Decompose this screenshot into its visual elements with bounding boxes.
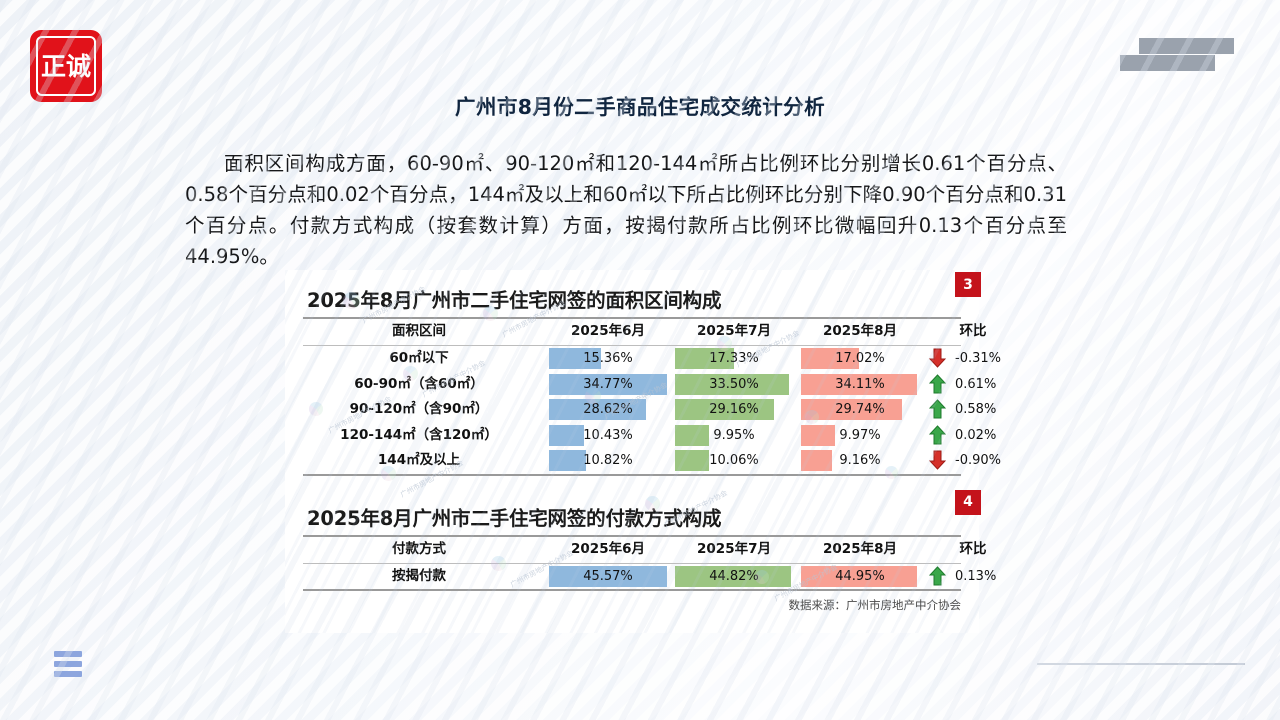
table-row: 按揭付款45.57%44.82%44.95%0.13% [303, 564, 961, 590]
table-row: 144㎡及以上10.82%10.06%9.16%-0.90% [303, 448, 961, 474]
data-value: 10.43% [549, 425, 667, 446]
checker-square [1139, 55, 1158, 71]
row-label: 60-90㎡（含60㎡） [303, 372, 535, 398]
column-header-jun: 2025年6月 [549, 537, 667, 563]
column-header-jun: 2025年6月 [549, 319, 667, 345]
data-cell-jun: 15.36% [549, 348, 667, 369]
row-label: 120-144㎡（含120㎡） [303, 423, 535, 449]
data-value: 34.77% [549, 374, 667, 395]
change-arrow-down-icon [929, 348, 946, 369]
data-value: 28.62% [549, 399, 667, 420]
checker-square [1177, 38, 1196, 54]
section-heading-2: 2025年8月广州市二手住宅网签的付款方式构成 [307, 502, 721, 531]
data-cell-aug: 29.74% [801, 399, 919, 420]
change-arrow-up-icon [929, 399, 946, 420]
data-cell-aug: 44.95% [801, 566, 919, 587]
table-header-row: 面积区间2025年6月2025年7月2025年8月环比 [303, 319, 961, 345]
body-paragraph: 面积区间构成方面，60-90㎡、90-120㎡和120-144㎡所占比例环比分别… [185, 148, 1067, 272]
company-logo-text: 正诚 [36, 36, 96, 96]
data-value: 9.16% [801, 450, 919, 471]
checker-decoration-icon [1120, 38, 1245, 72]
column-header-category: 面积区间 [303, 319, 535, 345]
menu-bar-3 [54, 671, 82, 677]
checker-square [1196, 38, 1215, 54]
data-value: 44.95% [801, 566, 919, 587]
data-cell-jul: 33.50% [675, 374, 793, 395]
data-cell-jun: 45.57% [549, 566, 667, 587]
data-value: 29.16% [675, 399, 793, 420]
data-cell-jul: 44.82% [675, 566, 793, 587]
slide-canvas: 正诚 广州市8月份二手商品住宅成交统计分析 面积区间构成方面，60-90㎡、90… [0, 0, 1280, 720]
change-value: 0.61% [955, 374, 1025, 395]
data-cell-jul: 29.16% [675, 399, 793, 420]
data-value: 44.82% [675, 566, 793, 587]
table-row: 120-144㎡（含120㎡）10.43%9.95%9.97%0.02% [303, 423, 961, 449]
row-label: 按揭付款 [303, 564, 535, 590]
column-header-jul: 2025年7月 [675, 319, 793, 345]
data-value: 9.97% [801, 425, 919, 446]
checker-square [1158, 55, 1177, 71]
checker-square [1215, 38, 1234, 54]
data-value: 17.33% [675, 348, 793, 369]
table-row: 90-120㎡（含90㎡）28.62%29.16%29.74%0.58% [303, 397, 961, 423]
data-value: 10.06% [675, 450, 793, 471]
row-label: 60㎡以下 [303, 346, 535, 372]
change-arrow-up-icon [929, 374, 946, 395]
change-arrow-up-icon [929, 566, 946, 587]
statistics-image-panel: 32025年8月广州市二手住宅网签的面积区间构成面积区间2025年6月2025年… [285, 270, 979, 633]
checker-square [1177, 55, 1196, 71]
column-header-aug: 2025年8月 [801, 537, 919, 563]
data-value: 10.82% [549, 450, 667, 471]
change-value: 0.58% [955, 399, 1025, 420]
data-cell-aug: 34.11% [801, 374, 919, 395]
column-header-change: 环比 [925, 537, 1021, 563]
source-note: 数据来源：广州市房地产中介协会 [789, 597, 962, 613]
table-rule-bottom [303, 474, 961, 476]
data-value: 45.57% [549, 566, 667, 587]
data-cell-jul: 17.33% [675, 348, 793, 369]
table-header-row: 付款方式2025年6月2025年7月2025年8月环比 [303, 537, 961, 563]
column-header-jul: 2025年7月 [675, 537, 793, 563]
data-value: 33.50% [675, 374, 793, 395]
change-value: 0.02% [955, 425, 1025, 446]
column-header-aug: 2025年8月 [801, 319, 919, 345]
data-value: 29.74% [801, 399, 919, 420]
menu-bar-2 [54, 661, 82, 667]
data-cell-jun: 10.82% [549, 450, 667, 471]
section-heading-1: 2025年8月广州市二手住宅网签的面积区间构成 [307, 284, 721, 313]
change-arrow-down-icon [929, 450, 946, 471]
menu-bar-1 [54, 651, 82, 657]
change-value: 0.13% [955, 566, 1025, 587]
data-value: 17.02% [801, 348, 919, 369]
menu-bars-icon[interactable] [54, 651, 82, 677]
data-value: 15.36% [549, 348, 667, 369]
data-cell-aug: 9.16% [801, 450, 919, 471]
section-badge-3: 3 [955, 272, 981, 297]
column-header-category: 付款方式 [303, 537, 535, 563]
checker-square [1139, 38, 1158, 54]
change-value: -0.31% [955, 348, 1025, 369]
table-row: 60-90㎡（含60㎡）34.77%33.50%34.11%0.61% [303, 372, 961, 398]
checker-square [1158, 38, 1177, 54]
table-rule-bottom [303, 589, 961, 591]
data-cell-jul: 10.06% [675, 450, 793, 471]
change-arrow-up-icon [929, 425, 946, 446]
section-badge-4: 4 [955, 490, 981, 515]
data-cell-jul: 9.95% [675, 425, 793, 446]
checker-square [1120, 55, 1139, 71]
data-value: 9.95% [675, 425, 793, 446]
change-value: -0.90% [955, 450, 1025, 471]
data-cell-aug: 17.02% [801, 348, 919, 369]
data-cell-jun: 34.77% [549, 374, 667, 395]
footer-rule [1037, 663, 1245, 665]
column-header-change: 环比 [925, 319, 1021, 345]
row-label: 90-120㎡（含90㎡） [303, 397, 535, 423]
data-value: 34.11% [801, 374, 919, 395]
checker-square [1196, 55, 1215, 71]
data-cell-jun: 10.43% [549, 425, 667, 446]
table-row: 60㎡以下15.36%17.33%17.02%-0.31% [303, 346, 961, 372]
page-title: 广州市8月份二手商品住宅成交统计分析 [0, 90, 1280, 120]
row-label: 144㎡及以上 [303, 448, 535, 474]
data-cell-jun: 28.62% [549, 399, 667, 420]
data-cell-aug: 9.97% [801, 425, 919, 446]
